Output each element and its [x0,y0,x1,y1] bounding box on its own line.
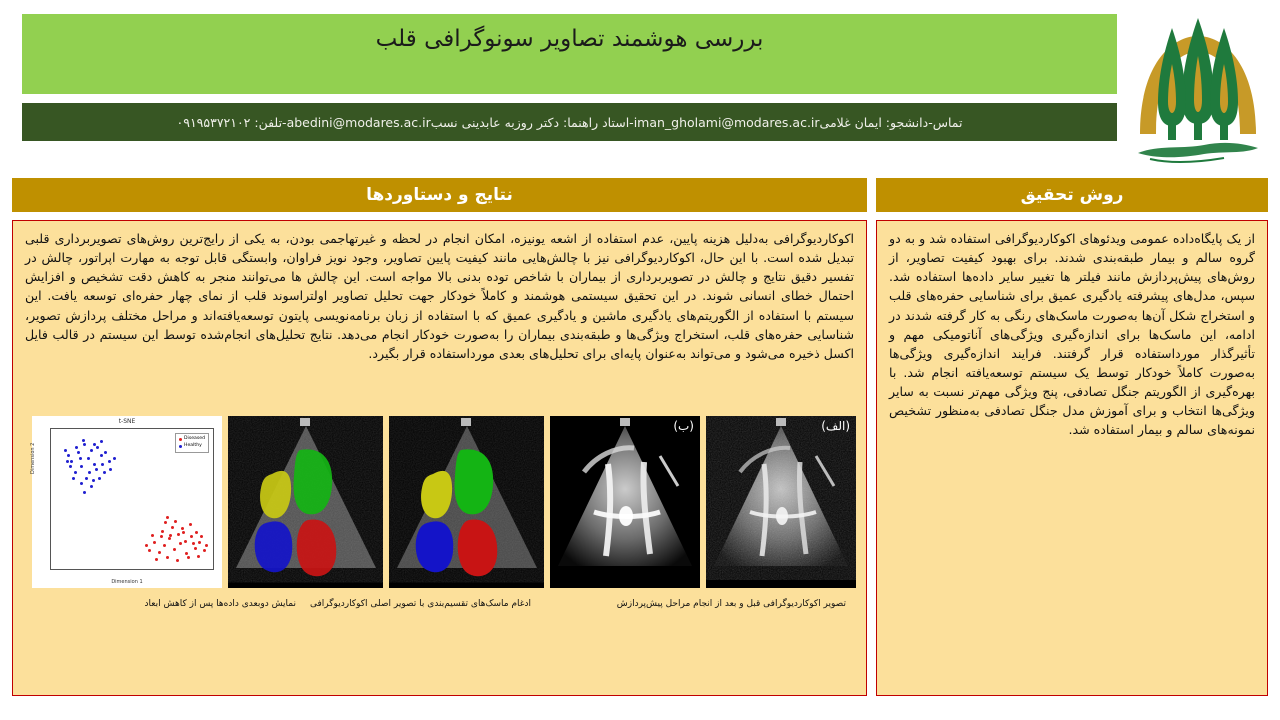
contact-line: تماس-دانشجو: ایمان غلامیiman_gholami@mod… [177,115,963,130]
supervisor-label: استاد راهنما: دکتر روزبه عابدینی نسب [431,115,629,130]
tsne-ylabel: Dimension 2 [30,443,36,474]
scatter-point [171,526,174,529]
figure-caption-3: نمایش دوبعدی داده‌ها پس از کاهش ابعاد [145,599,296,609]
scatter-point [90,485,93,488]
student-label: دانشجو: ایمان غلامی [820,115,929,130]
scatter-point [70,460,73,463]
scatter-point [90,449,93,452]
student-email[interactable]: iman_gholami@modares.ac.ir [634,115,820,130]
scatter-point [92,479,95,482]
scatter-point [64,449,67,452]
supervisor-email[interactable]: abedini@modares.ac.ir [287,115,431,130]
tsne-plot-area: Diseased Healthy [50,428,214,570]
scatter-point [173,548,176,551]
legend-label-diseased: Diseased [184,436,205,443]
scatter-point [103,471,106,474]
scatter-point [155,558,158,561]
scatter-point [151,534,154,537]
scatter-point [83,443,86,446]
echo-preprocessed-image [550,416,700,588]
scatter-point [100,440,103,443]
scatter-point [95,468,98,471]
scatter-point [66,460,69,463]
section-title-results: نتایج و دستاوردها [366,185,513,205]
figure-label-be: (ب) [673,419,694,433]
scatter-point [197,555,200,558]
scatter-point [190,535,193,538]
section-header-method: روش تحقیق [876,178,1268,212]
scatter-point [69,465,72,468]
figure-echo-raw: (الف) [706,416,856,588]
scatter-point [100,454,103,457]
scatter-point [83,491,86,494]
section-title-method: روش تحقیق [1021,185,1124,205]
figure-strip: (الف) [25,416,856,588]
scatter-point [187,556,190,559]
scatter-point [176,559,179,562]
scatter-point [163,544,166,547]
scatter-point [181,527,184,530]
scatter-point [96,446,99,449]
scatter-point [177,533,180,536]
page-title: بررسی هوشمند تصاویر سونوگرافی قلب [22,26,1117,52]
scatter-point [205,544,208,547]
legend-item-healthy: Healthy [179,443,205,450]
scatter-point [108,460,111,463]
scatter-point [101,463,104,466]
panel-results: اکوکاردیوگرافی به‌دلیل هزینه پایین، عدم … [12,220,867,696]
scatter-point [189,523,192,526]
scatter-point [194,547,197,550]
scatter-point [195,531,198,534]
scatter-point [200,535,203,538]
figure-tsne-plot: t-SNE Dimension 2 Dimension 1 Diseased H… [32,416,222,588]
contact-band: تماس-دانشجو: ایمان غلامیiman_gholami@mod… [22,103,1117,141]
scatter-point [164,521,167,524]
scatter-point [67,454,70,457]
scatter-point [182,531,185,534]
mask-overlay-image [228,416,383,588]
scatter-point [203,549,206,552]
contact-label: تماس [933,115,963,130]
scatter-point [98,477,101,480]
scatter-point [85,477,88,480]
scatter-point [169,534,172,537]
tsne-title: t-SNE [32,418,222,425]
scatter-point [74,471,77,474]
figure-captions: تصویر اکوکاردیوگرافی قبل و بعد از انجام … [25,599,856,619]
scatter-point [87,457,90,460]
segmentation-mask-image [389,416,544,588]
scatter-point [161,530,164,533]
phone-number: ۰۹۱۹۵۳۷۲۱۰۲ [177,115,251,130]
figure-label-alef: (الف) [821,419,850,433]
scatter-point [166,516,169,519]
scatter-point [158,551,161,554]
scatter-point [166,556,169,559]
method-body-text: از یک پایگاه‌داده عمومی ویدئوهای اکوکارد… [889,229,1255,440]
section-header-results: نتایج و دستاوردها [12,178,867,212]
results-body-text: اکوکاردیوگرافی به‌دلیل هزینه پایین، عدم … [25,229,854,363]
phone-label: تلفن: [254,115,282,130]
scatter-point [184,540,187,543]
scatter-point [80,465,83,468]
scatter-point [153,541,156,544]
scatter-point [168,537,171,540]
scatter-point [179,542,182,545]
scatter-point [75,446,78,449]
legend-swatch-diseased [179,438,182,441]
scatter-point [88,471,91,474]
scatter-point [79,457,82,460]
scatter-point [72,477,75,480]
scatter-point [104,451,107,454]
scatter-point [148,549,151,552]
echo-raw-image [706,416,856,588]
tsne-xlabel: Dimension 1 [32,579,222,585]
scatter-point [113,457,116,460]
legend-swatch-healthy [179,445,182,448]
scatter-point [93,463,96,466]
scatter-point [174,520,177,523]
legend-item-diseased: Diseased [179,436,205,443]
figure-caption-1: تصویر اکوکاردیوگرافی قبل و بعد از انجام … [617,599,846,609]
figure-caption-2: ادغام ماسک‌های تقسیم‌بندی با تصویر اصلی … [310,599,531,609]
panel-method: از یک پایگاه‌داده عمومی ویدئوهای اکوکارد… [876,220,1268,696]
scatter-point [80,482,83,485]
scatter-point [192,542,195,545]
scatter-point [77,451,80,454]
tsne-legend: Diseased Healthy [175,433,209,453]
header-band: بررسی هوشمند تصاویر سونوگرافی قلب [22,14,1117,94]
university-logo-icon [1128,12,1268,167]
figure-segmentation-masks [389,416,544,588]
figure-mask-overlay [228,416,383,588]
scatter-point [160,535,163,538]
scatter-point [185,552,188,555]
scatter-point [109,468,112,471]
figure-echo-preprocessed: (ب) [550,416,700,588]
legend-label-healthy: Healthy [184,443,202,450]
scatter-point [82,439,85,442]
scatter-point [198,541,201,544]
scatter-point [145,544,148,547]
